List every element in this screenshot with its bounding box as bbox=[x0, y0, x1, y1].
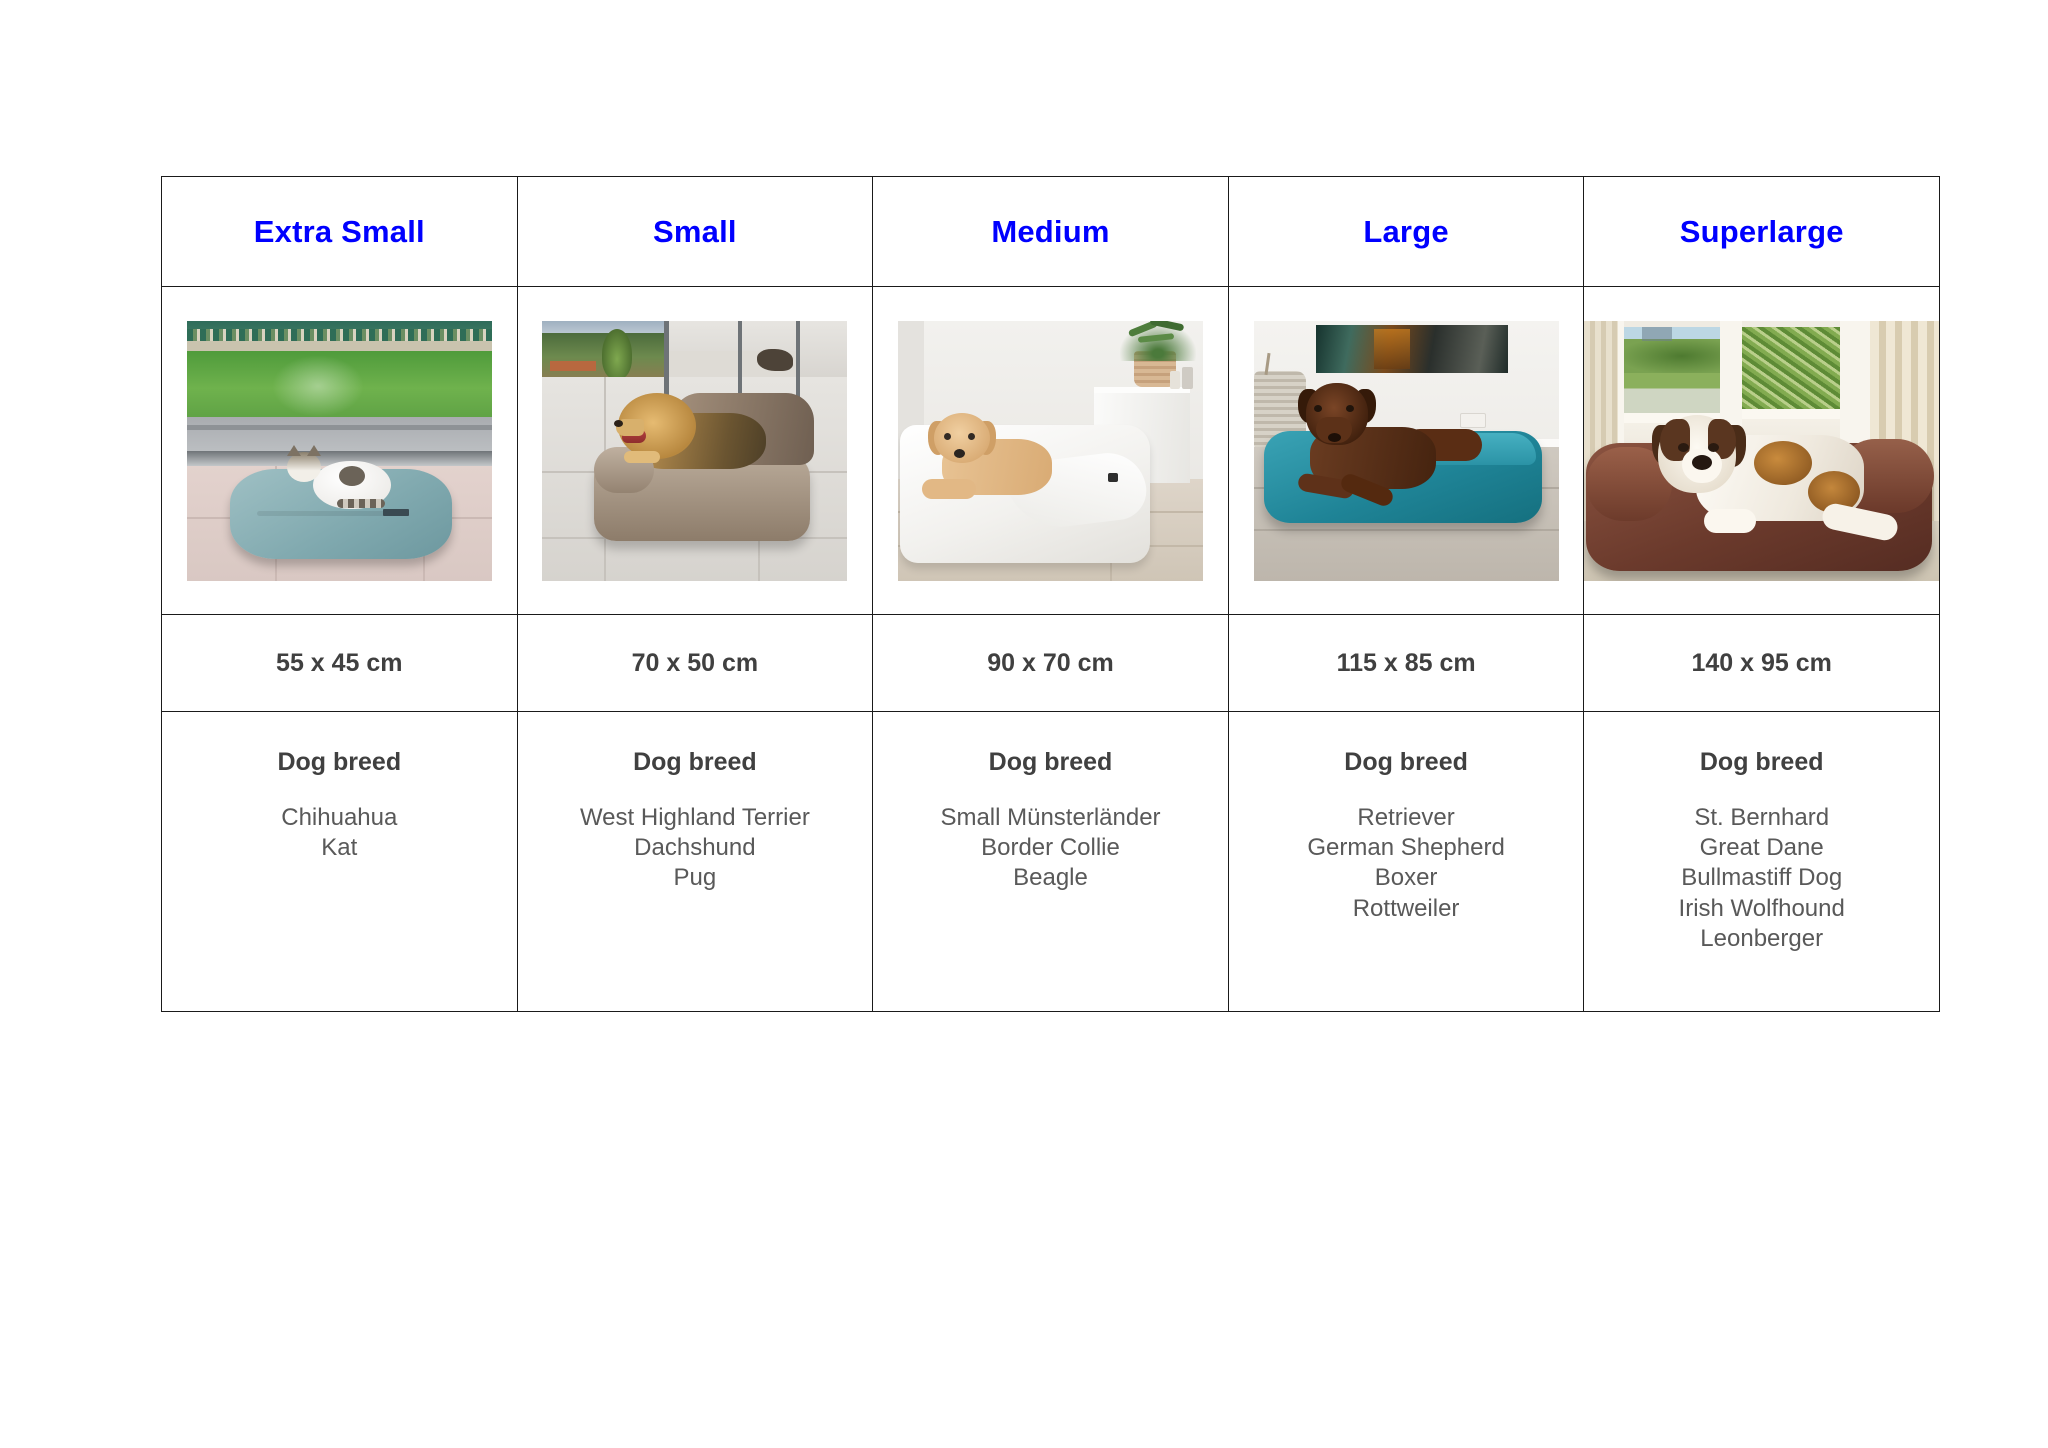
photo-terrier-paw bbox=[624, 451, 660, 463]
size-label-superlarge: Superlarge bbox=[1680, 214, 1844, 249]
breed-list-medium: Small Münsterländer Border Collie Beagle bbox=[873, 803, 1228, 894]
dimension-value-medium: 90 x 70 cm bbox=[987, 649, 1114, 677]
photo-patio bbox=[187, 417, 492, 453]
photo-brand-label bbox=[383, 509, 409, 516]
dimension-cell-medium: 90 x 70 cm bbox=[873, 615, 1229, 712]
dimension-value-extra-small: 55 x 45 cm bbox=[276, 649, 403, 677]
dimension-value-large: 115 x 85 cm bbox=[1337, 649, 1476, 677]
size-label-small: Small bbox=[653, 214, 737, 249]
list-item: Chihuahua bbox=[162, 803, 517, 833]
photo-window-building bbox=[1642, 327, 1672, 341]
photo-cat-head bbox=[287, 452, 321, 482]
list-item: Border Collie bbox=[873, 833, 1228, 863]
photo-window-hedge-left bbox=[1624, 339, 1720, 373]
breed-block-small: Dog breed West Highland Terrier Dachshun… bbox=[518, 712, 873, 894]
size-label-large: Large bbox=[1363, 214, 1448, 249]
list-item: Pug bbox=[518, 863, 873, 893]
image-cell-extra-small bbox=[162, 287, 518, 615]
photo-patio-edge bbox=[187, 425, 492, 430]
image-cell-large bbox=[1228, 287, 1584, 615]
breed-list-extra-small: Chihuahua Kat bbox=[162, 803, 517, 863]
photo-st-bernard-eye-left bbox=[1678, 443, 1689, 452]
image-wrapper-small bbox=[518, 287, 873, 614]
breed-heading-large: Dog breed bbox=[1229, 750, 1584, 775]
photo-cat-ear-left bbox=[287, 445, 301, 456]
list-item: West Highland Terrier bbox=[518, 803, 873, 833]
list-item: Retriever bbox=[1229, 803, 1584, 833]
list-item: Dachshund bbox=[518, 833, 873, 863]
breed-heading-medium: Dog breed bbox=[873, 750, 1228, 775]
header-cell-large: Large bbox=[1228, 177, 1584, 287]
list-item: Kat bbox=[162, 833, 517, 863]
document-page: Extra Small Small Medium Large Superlarg… bbox=[0, 0, 2048, 1448]
breed-cell-medium: Dog breed Small Münsterländer Border Col… bbox=[873, 712, 1229, 1012]
list-item: Leonberger bbox=[1584, 924, 1939, 954]
photo-bed-tag bbox=[1108, 473, 1118, 482]
list-item: Rottweiler bbox=[1229, 894, 1584, 924]
product-photo-medium bbox=[898, 321, 1203, 581]
dimension-value-small: 70 x 50 cm bbox=[632, 649, 759, 677]
photo-puppy-legs bbox=[922, 479, 976, 499]
dimension-cell-superlarge: 140 x 95 cm bbox=[1584, 615, 1940, 712]
image-cell-superlarge bbox=[1584, 287, 1940, 615]
photo-wall-artwork bbox=[1316, 325, 1508, 373]
image-cell-small bbox=[517, 287, 873, 615]
photo-puppy-eye-right bbox=[968, 433, 975, 440]
photo-cat-spot bbox=[339, 466, 365, 486]
photo-labrador-eye-right bbox=[1346, 405, 1354, 412]
breed-block-large: Dog breed Retriever German Shepherd Boxe… bbox=[1229, 712, 1584, 924]
table-dimension-row: 55 x 45 cm 70 x 50 cm 90 x 70 cm 115 x 8… bbox=[162, 615, 1940, 712]
dog-bed-size-table: Extra Small Small Medium Large Superlarg… bbox=[161, 176, 1940, 1012]
photo-candle-2 bbox=[1170, 371, 1180, 389]
photo-second-dog bbox=[757, 349, 793, 371]
photo-wall-socket bbox=[1460, 413, 1486, 428]
image-wrapper-large bbox=[1229, 287, 1584, 614]
photo-st-bernard-front-paw bbox=[1704, 509, 1756, 533]
photo-glass-reflection bbox=[272, 355, 364, 417]
photo-cat-ear-right bbox=[307, 445, 321, 456]
photo-distant-roof bbox=[550, 361, 596, 371]
header-cell-superlarge: Superlarge bbox=[1584, 177, 1940, 287]
dimension-cell-extra-small: 55 x 45 cm bbox=[162, 615, 518, 712]
photo-window-pane-right bbox=[1742, 327, 1840, 411]
list-item: Great Dane bbox=[1584, 833, 1939, 863]
photo-window-sill-right bbox=[1742, 409, 1840, 419]
size-label-extra-small: Extra Small bbox=[254, 214, 425, 249]
table-header-row: Extra Small Small Medium Large Superlarg… bbox=[162, 177, 1940, 287]
photo-artwork-highlight bbox=[1374, 329, 1410, 369]
image-wrapper-medium bbox=[873, 287, 1228, 614]
photo-labrador-nose bbox=[1328, 433, 1341, 442]
dimension-cell-large: 115 x 85 cm bbox=[1228, 615, 1584, 712]
breed-cell-large: Dog breed Retriever German Shepherd Boxe… bbox=[1228, 712, 1584, 1012]
list-item: Boxer bbox=[1229, 863, 1584, 893]
header-cell-extra-small: Extra Small bbox=[162, 177, 518, 287]
breed-cell-small: Dog breed West Highland Terrier Dachshun… bbox=[517, 712, 873, 1012]
photo-candle-1 bbox=[1182, 367, 1193, 389]
breed-block-extra-small: Dog breed Chihuahua Kat bbox=[162, 712, 517, 863]
product-photo-small bbox=[542, 321, 847, 581]
breed-block-superlarge: Dog breed St. Bernhard Great Dane Bullma… bbox=[1584, 712, 1939, 954]
size-label-medium: Medium bbox=[991, 214, 1109, 249]
photo-cat-tail bbox=[337, 499, 385, 508]
breed-list-large: Retriever German Shepherd Boxer Rottweil… bbox=[1229, 803, 1584, 924]
photo-st-bernard-nose bbox=[1692, 455, 1712, 470]
list-item: Irish Wolfhound bbox=[1584, 894, 1939, 924]
photo-st-bernard-eye-right bbox=[1708, 443, 1719, 452]
product-photo-extra-small bbox=[187, 321, 492, 581]
photo-puppy-eye-left bbox=[944, 433, 951, 440]
list-item: Small Münsterländer bbox=[873, 803, 1228, 833]
photo-floor-seam-2 bbox=[1254, 529, 1559, 531]
image-cell-medium bbox=[873, 287, 1229, 615]
photo-st-bernard-patch-1 bbox=[1754, 441, 1812, 485]
product-photo-superlarge bbox=[1584, 321, 1939, 581]
list-item: Bullmastiff Dog bbox=[1584, 863, 1939, 893]
breed-list-small: West Highland Terrier Dachshund Pug bbox=[518, 803, 873, 894]
dimension-value-superlarge: 140 x 95 cm bbox=[1691, 649, 1831, 677]
breed-cell-superlarge: Dog breed St. Bernhard Great Dane Bullma… bbox=[1584, 712, 1940, 1012]
list-item: German Shepherd bbox=[1229, 833, 1584, 863]
photo-terrier-nose bbox=[614, 420, 623, 427]
list-item: Beagle bbox=[873, 863, 1228, 893]
table-image-row bbox=[162, 287, 1940, 615]
header-cell-small: Small bbox=[517, 177, 873, 287]
breed-heading-extra-small: Dog breed bbox=[162, 750, 517, 775]
breed-heading-small: Dog breed bbox=[518, 750, 873, 775]
breed-block-medium: Dog breed Small Münsterländer Border Col… bbox=[873, 712, 1228, 894]
breed-cell-extra-small: Dog breed Chihuahua Kat bbox=[162, 712, 518, 1012]
table-breed-row: Dog breed Chihuahua Kat Dog breed West H… bbox=[162, 712, 1940, 1012]
photo-labrador-eye-left bbox=[1314, 405, 1322, 412]
image-wrapper-superlarge bbox=[1584, 287, 1939, 614]
breed-heading-superlarge: Dog breed bbox=[1584, 750, 1939, 775]
list-item: St. Bernhard bbox=[1584, 803, 1939, 833]
breed-list-superlarge: St. Bernhard Great Dane Bullmastiff Dog … bbox=[1584, 803, 1939, 954]
image-wrapper-extra-small bbox=[162, 287, 517, 614]
dimension-cell-small: 70 x 50 cm bbox=[517, 615, 873, 712]
header-cell-medium: Medium bbox=[873, 177, 1229, 287]
photo-palm-tree bbox=[602, 329, 632, 379]
photo-puppy-nose bbox=[954, 449, 965, 458]
product-photo-large bbox=[1254, 321, 1559, 581]
